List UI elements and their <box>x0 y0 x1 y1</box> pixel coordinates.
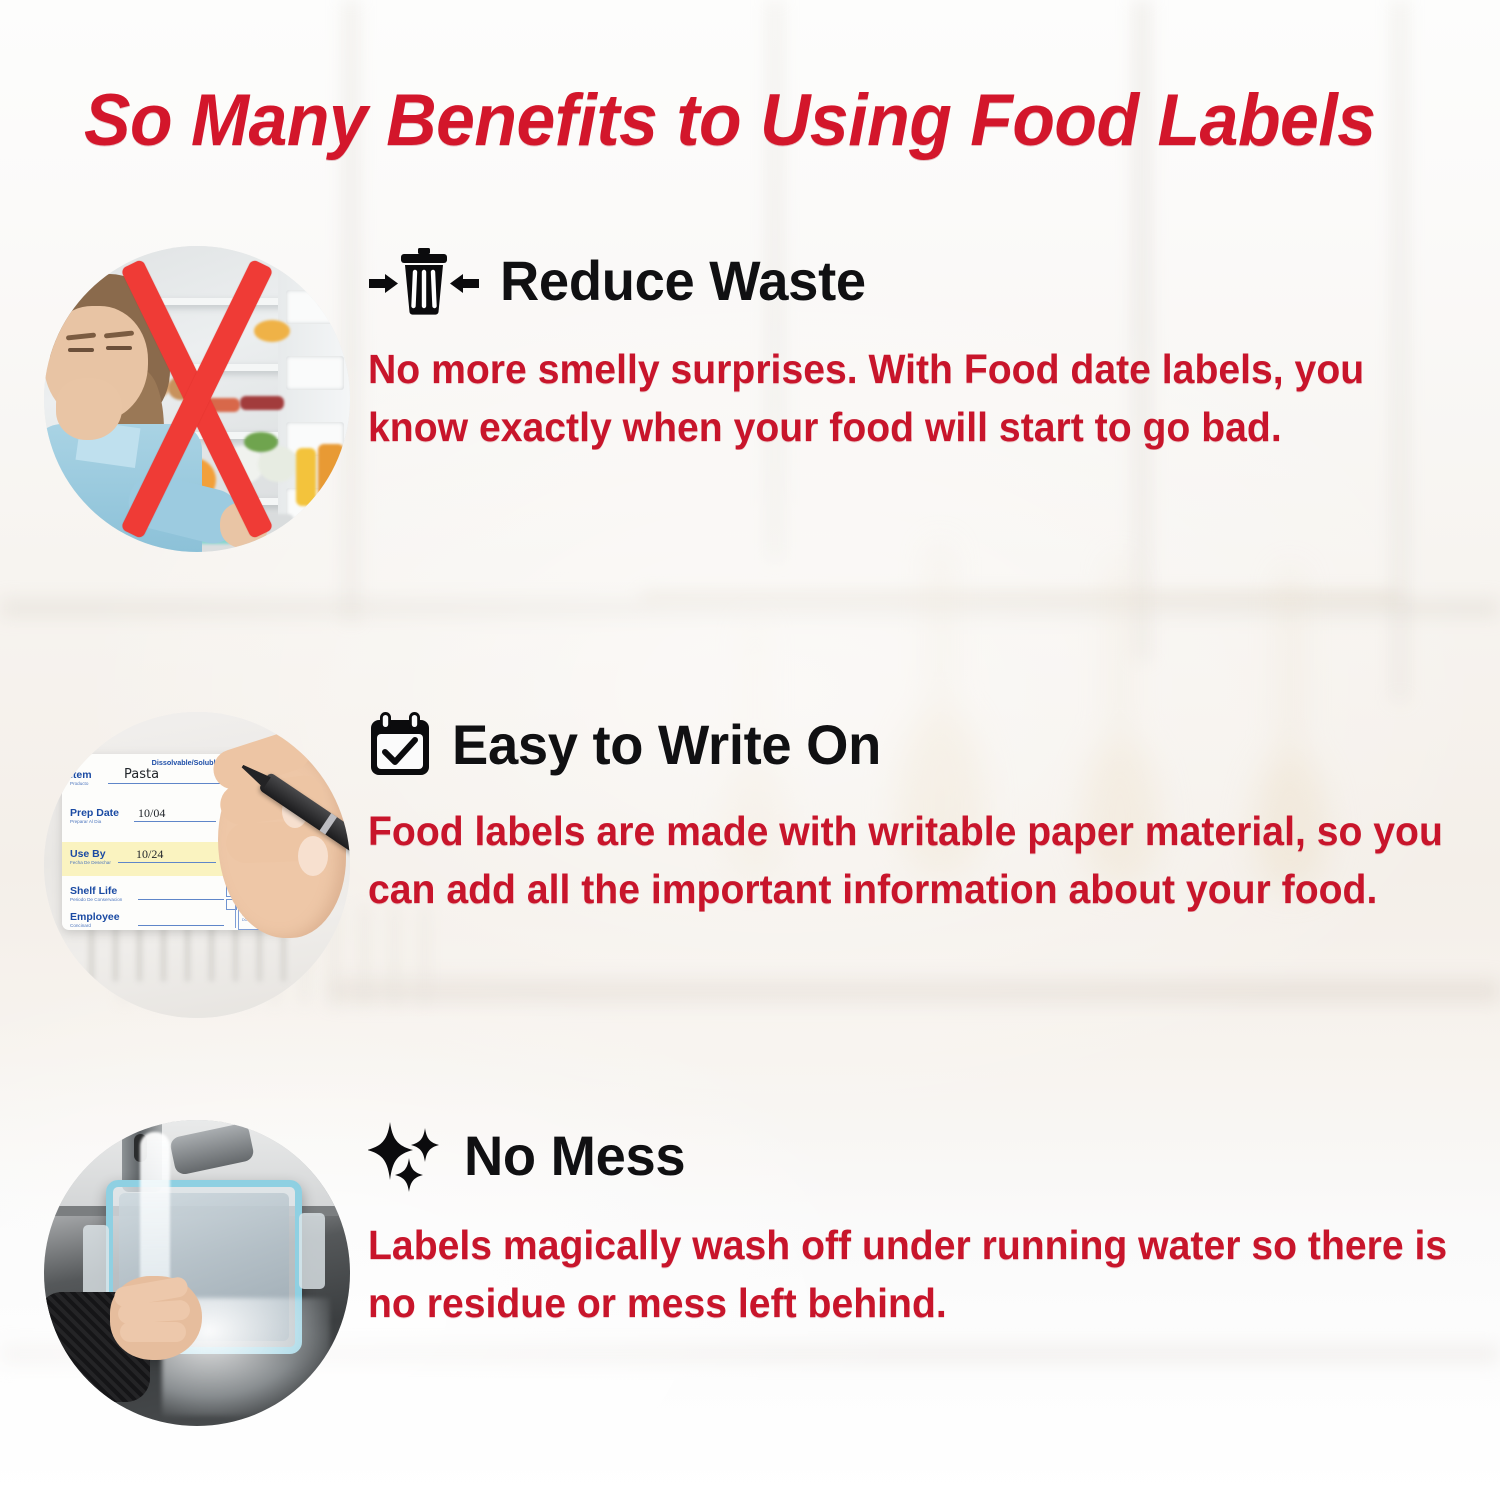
benefit-text-easy-to-write-on: Easy to Write On Food labels are made wi… <box>368 712 1458 918</box>
sparkles-icon <box>368 1120 444 1192</box>
benefit-heading-no-mess: No Mess <box>368 1120 1458 1192</box>
infographic-page: So Many Benefits to Using Food Labels <box>0 0 1500 1500</box>
heading-text: No Mess <box>464 1128 685 1184</box>
heading-text: Easy to Write On <box>452 717 881 773</box>
photo-easy-to-write-on: Dissolvable/Soluble Label Item Producto … <box>44 712 350 1018</box>
sink-photo <box>44 1120 350 1426</box>
label-value-use-by: 10/24 <box>136 847 163 862</box>
benefit-heading-reduce-waste: Reduce Waste <box>368 246 1458 316</box>
hand-holding-container <box>110 1276 202 1360</box>
label-value-item: Pasta <box>124 767 159 782</box>
label-value-prep-date: 10/04 <box>138 806 165 821</box>
calendar-check-icon <box>368 712 432 778</box>
benefit-heading-easy-to-write-on: Easy to Write On <box>368 712 1458 778</box>
benefit-body-easy-to-write-on: Food labels are made with writable paper… <box>368 802 1452 918</box>
heading-text: Reduce Waste <box>500 253 866 309</box>
benefit-text-reduce-waste: Reduce Waste No more smelly surprises. W… <box>368 246 1458 456</box>
benefit-text-no-mess: No Mess Labels magically wash off under … <box>368 1120 1458 1332</box>
hand-holding-marker <box>212 718 350 948</box>
red-x-overlay <box>44 246 350 552</box>
benefit-body-no-mess: Labels magically wash off under running … <box>368 1216 1452 1332</box>
photo-no-mess <box>44 1120 350 1426</box>
photo-reduce-waste <box>44 246 350 552</box>
trash-can-reduce-icon <box>368 246 480 316</box>
page-title: So Many Benefits to Using Food Labels <box>84 84 1373 157</box>
benefit-body-reduce-waste: No more smelly surprises. With Food date… <box>368 340 1452 456</box>
